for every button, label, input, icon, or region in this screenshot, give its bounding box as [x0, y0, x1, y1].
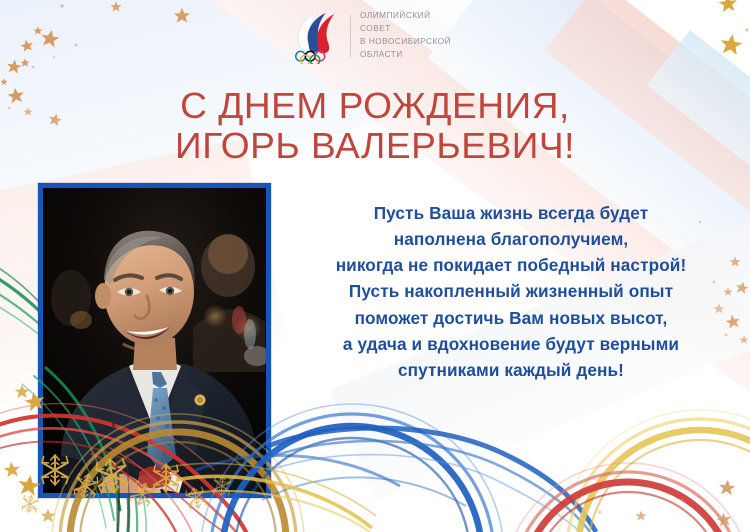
- greeting-message: Пусть Ваша жизнь всегда будет наполнена …: [282, 200, 740, 383]
- title-line-2: ИГОРЬ ВАЛЕРЬЕВИЧ!: [0, 128, 750, 165]
- tricolour-flame-icon: [298, 12, 334, 53]
- olympic-rings-icon: [296, 51, 325, 64]
- message-line-5: поможет достичь Вам новых высот,: [282, 305, 740, 331]
- title-line-1: С ДНЕМ РОЖДЕНИЯ,: [0, 88, 750, 125]
- message-line-2: наполнена благополучием,: [282, 226, 740, 252]
- message-line-7: спутниками каждый день!: [282, 357, 740, 383]
- logo-line-2: СОВЕТ: [360, 23, 451, 36]
- greeting-title: С ДНЕМ РОЖДЕНИЯ, ИГОРЬ ВАЛЕРЬЕВИЧ!: [0, 88, 750, 164]
- blue-sweep-group: [268, 428, 596, 532]
- logo-line-3: В НОВОСИБИРСКОЙ: [360, 36, 451, 49]
- red-circle-group: [503, 463, 750, 532]
- logo-text-block: ОЛИМПИЙСКИЙ СОВЕТ В НОВОСИБИРСКОЙ ОБЛАСТ…: [360, 10, 451, 62]
- message-line-1: Пусть Ваша жизнь всегда будет: [282, 200, 740, 226]
- logo-line-4: ОБЛАСТИ: [360, 49, 451, 62]
- birthday-greeting-card: ОЛИМПИЙСКИЙ СОВЕТ В НОВОСИБИРСКОЙ ОБЛАСТ…: [0, 0, 750, 532]
- organization-logo: ОЛИМПИЙСКИЙ СОВЕТ В НОВОСИБИРСКОЙ ОБЛАСТ…: [289, 8, 451, 64]
- logo-line-1: ОЛИМПИЙСКИЙ: [360, 10, 451, 23]
- star-cluster-top-right: [718, 0, 749, 55]
- message-line-6: а удача и вдохновение будут верными: [282, 331, 740, 357]
- logo-divider: [350, 15, 351, 57]
- portrait-photo: [38, 183, 271, 498]
- message-line-4: Пусть накопленный жизненный опыт: [282, 278, 740, 304]
- portrait-photo-image: [43, 188, 266, 493]
- star-cluster-bottom-right: [598, 479, 736, 527]
- russian-olympic-committee-emblem: [289, 8, 341, 64]
- message-line-3: никогда не покидает победный настрой!: [282, 252, 740, 278]
- yellow-circle-group: [558, 410, 750, 532]
